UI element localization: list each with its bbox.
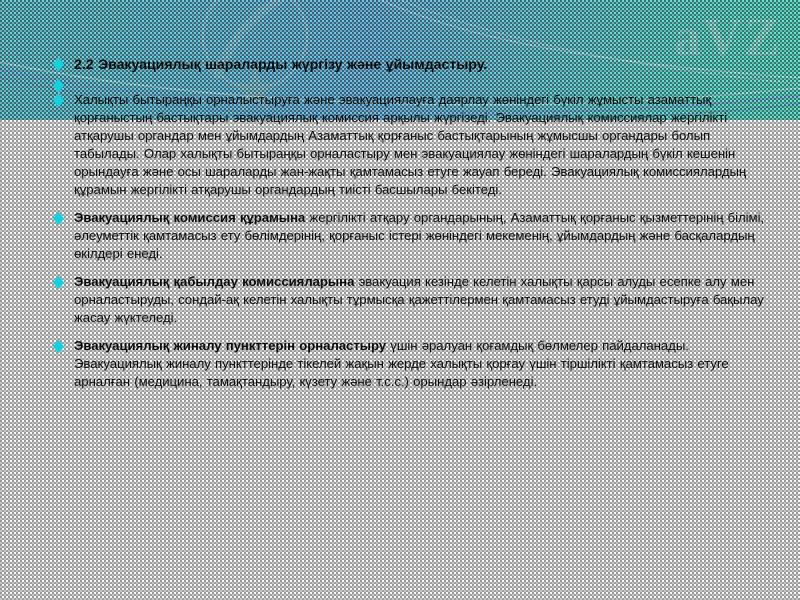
paragraph-bold-lead-4: Эвакуациялық жиналу пункттерін орналасты…	[74, 338, 386, 353]
diamond-bullet-icon	[53, 93, 64, 107]
bullet-item-3: Эвакуациялық қабылдау комиссияларына эва…	[52, 273, 768, 327]
paragraph-bold-lead-2: Эвакуациялық комиссия құрамына	[74, 210, 305, 225]
paragraph-gap	[52, 265, 768, 273]
paragraph-text-1: Халықты бытыраңқы орналыстыруға және эва…	[74, 91, 768, 199]
bullet-item-1: Халықты бытыраңқы орналыстыруға және эва…	[52, 91, 768, 199]
paragraph-text-2: Эвакуациялық комиссия құрамына жергілікт…	[74, 209, 768, 263]
paragraph-gap	[52, 329, 768, 337]
slide-title: 2.2 Эвакуациялық шараларды жүргізу және …	[74, 56, 768, 75]
diamond-bullet-icon	[53, 275, 64, 289]
diamond-bullet-icon	[53, 339, 64, 353]
slide-body: 2.2 Эвакуациялық шараларды жүргізу және …	[52, 56, 768, 393]
paragraph-gap	[52, 201, 768, 209]
bullet-item-2: Эвакуациялық комиссия құрамына жергілікт…	[52, 209, 768, 263]
bullet-item-4: Эвакуациялық жиналу пункттерін орналасты…	[52, 337, 768, 391]
paragraph-bold-lead-3: Эвакуациялық қабылдау комиссияларына	[74, 274, 354, 289]
diamond-bullet-icon	[53, 211, 64, 225]
paragraph-text-3: Эвакуациялық қабылдау комиссияларына эва…	[74, 273, 768, 327]
bullet-item-empty	[52, 77, 768, 91]
diamond-bullet-icon	[53, 57, 64, 71]
paragraph-text-4: Эвакуациялық жиналу пункттерін орналасты…	[74, 337, 768, 391]
bullet-item-title: 2.2 Эвакуациялық шараларды жүргізу және …	[52, 56, 768, 75]
presentation-slide: aVZ 2.2 Эвакуациялық шараларды жүргізу ж…	[0, 0, 800, 600]
